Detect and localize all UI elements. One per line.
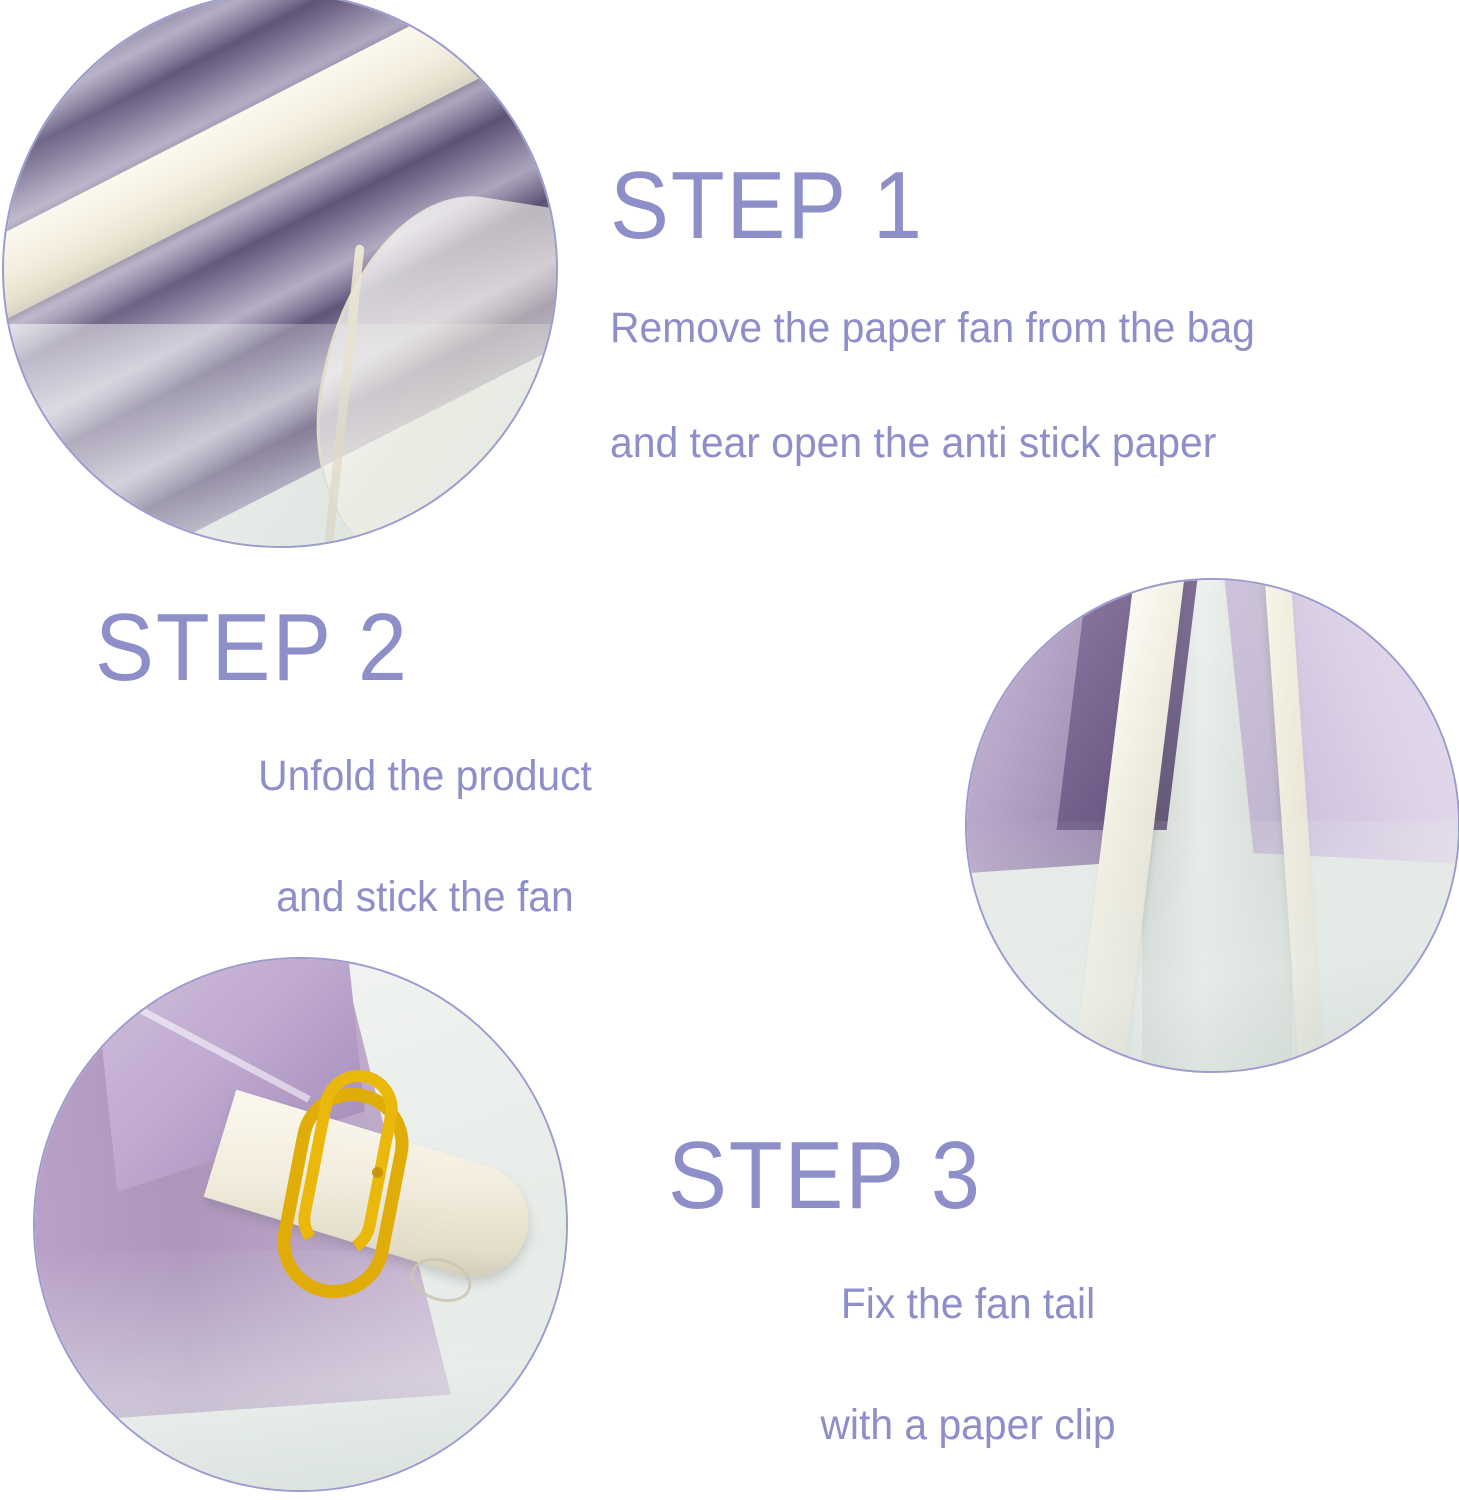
instruction-infographic: STEP 1 Remove the paper fan from the bag… — [0, 0, 1459, 1500]
step-1-photo-content — [4, 0, 556, 546]
paper-clip-tip — [372, 1167, 383, 1178]
step-3-photo-circle — [33, 957, 568, 1492]
step-3-body-line-1: Fix the fan tail — [683, 1264, 1253, 1345]
step-2-photo-circle — [965, 578, 1459, 1073]
step-3-body-line-2: with a paper clip — [683, 1385, 1253, 1466]
step-1-text-block: STEP 1 Remove the paper fan from the bag… — [610, 158, 1289, 484]
step-1-body-line-2: and tear open the anti stick paper — [610, 403, 1255, 484]
step-2-photo-content — [967, 580, 1458, 1071]
surface-sheen — [967, 821, 1458, 1071]
step-1-body-line-1: Remove the paper fan from the bag — [610, 288, 1255, 369]
step-1-heading: STEP 1 — [610, 158, 1235, 254]
step-3-text-block: STEP 3 Fix the fan tail with a paper cli… — [668, 1128, 1268, 1466]
step-2-body-line-1: Unfold the product — [112, 736, 739, 817]
step-1-photo-circle — [2, 0, 558, 548]
step-3-photo-content — [35, 959, 566, 1490]
step-3-heading: STEP 3 — [668, 1128, 1220, 1224]
step-2-body-line-2: and stick the fan — [112, 857, 739, 938]
step-2-heading: STEP 2 — [95, 600, 702, 696]
step-2-text-block: STEP 2 Unfold the product and stick the … — [95, 600, 755, 938]
